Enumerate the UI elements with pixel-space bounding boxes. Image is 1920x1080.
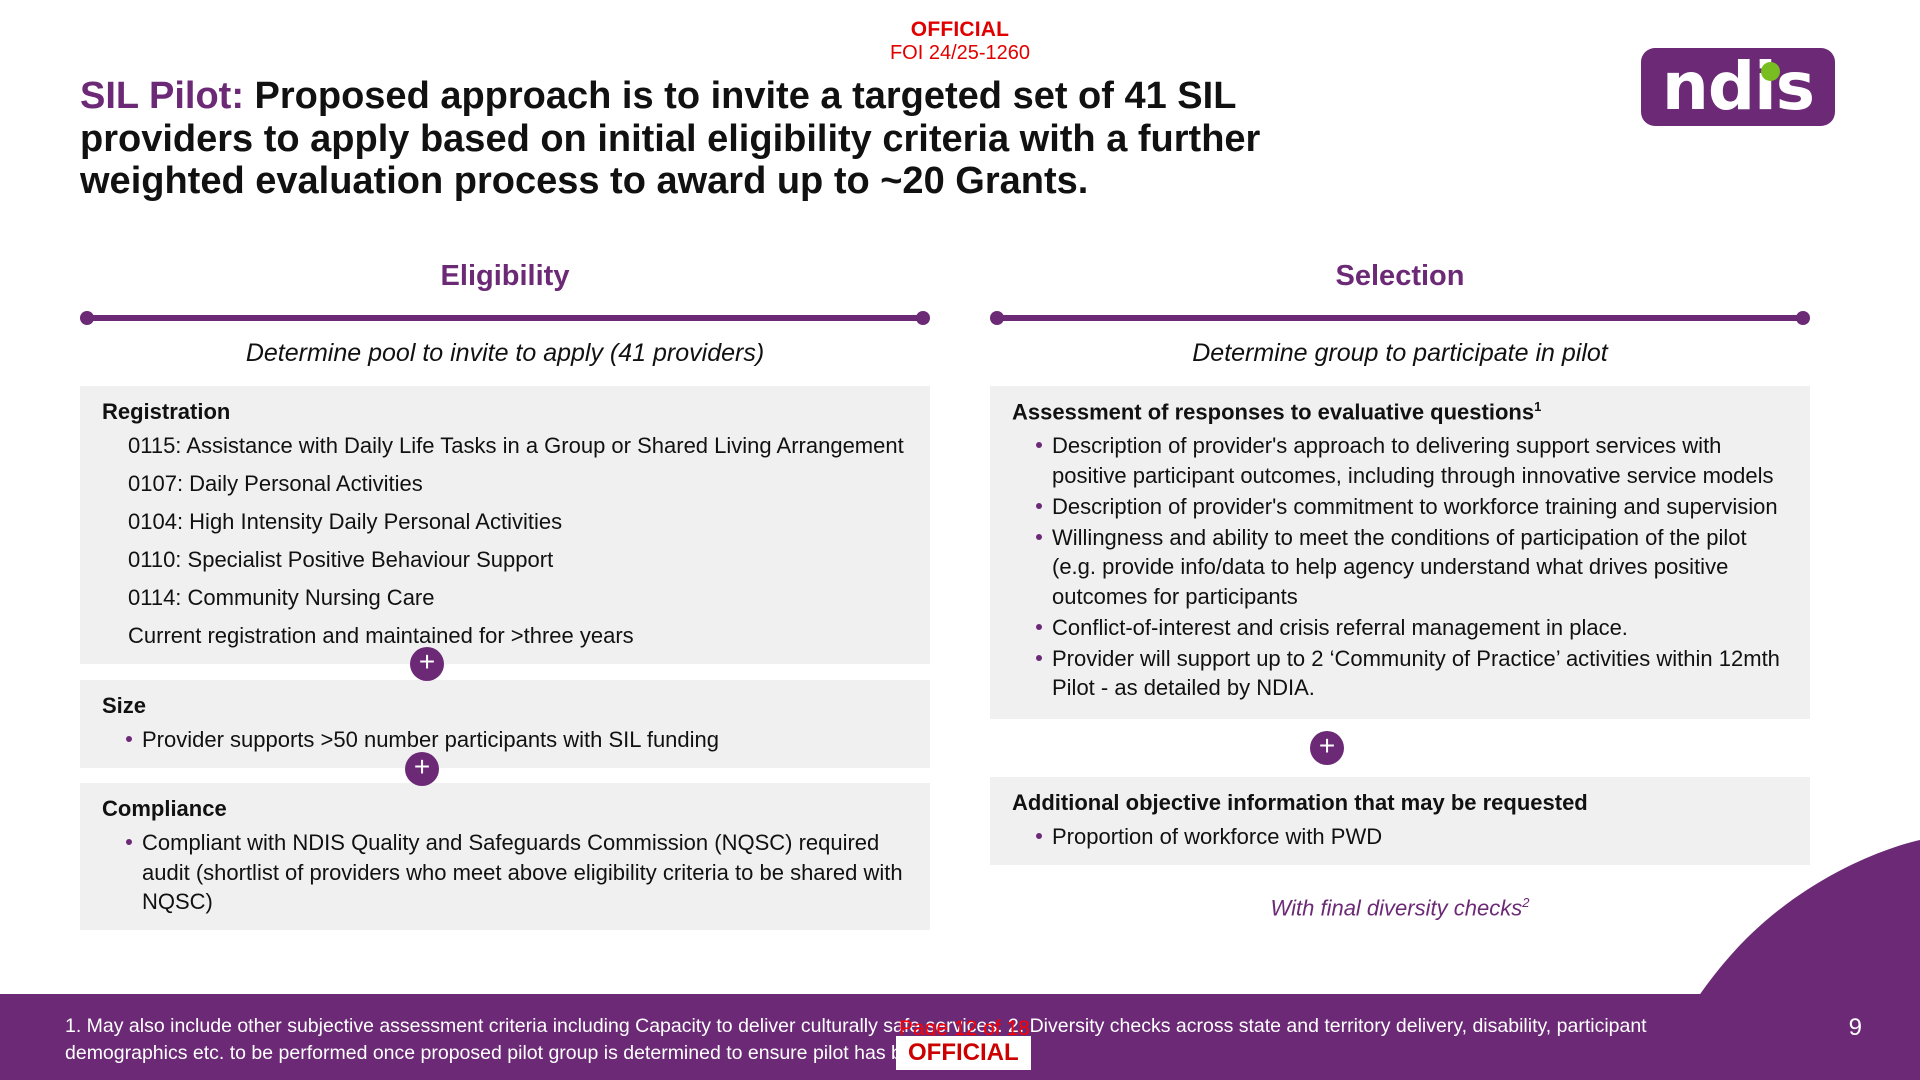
list-item: Willingness and ability to meet the cond… bbox=[1010, 523, 1790, 611]
timeline-dot-right-icon bbox=[1796, 311, 1810, 325]
final-diversity-note: With final diversity checks2 bbox=[990, 895, 1810, 921]
list-item: Compliant with NDIS Quality and Safeguar… bbox=[100, 828, 910, 916]
card-title-assessment: Assessment of responses to evaluative qu… bbox=[1012, 399, 1790, 425]
list-size: Provider supports >50 number participant… bbox=[100, 725, 910, 754]
card-title-assessment-text: Assessment of responses to evaluative qu… bbox=[1012, 399, 1534, 424]
list-compliance: Compliant with NDIS Quality and Safeguar… bbox=[100, 828, 910, 916]
official-stamp: OFFICIAL bbox=[896, 1036, 1031, 1070]
list-item: Proportion of workforce with PWD bbox=[1010, 822, 1790, 851]
timeline-bar bbox=[88, 315, 922, 321]
list-item: Provider will support up to 2 ‘Community… bbox=[1010, 644, 1790, 703]
card-size: Size Provider supports >50 number partic… bbox=[80, 680, 930, 768]
column-subheading-selection: Determine group to participate in pilot bbox=[990, 339, 1810, 368]
column-eligibility: Eligibility Determine pool to invite to … bbox=[80, 260, 930, 930]
ndis-logo: ndis bbox=[1641, 48, 1835, 126]
card-title-registration: Registration bbox=[102, 399, 910, 425]
timeline-bar bbox=[998, 315, 1802, 321]
card-title-additional-info: Additional objective information that ma… bbox=[1012, 790, 1790, 816]
plus-icon: + bbox=[405, 752, 439, 786]
list-item: Description of provider's commitment to … bbox=[1010, 492, 1790, 521]
list-item: 0110: Specialist Positive Behaviour Supp… bbox=[100, 545, 910, 574]
list-assessment: Description of provider's approach to de… bbox=[1010, 431, 1790, 702]
list-item: Description of provider's approach to de… bbox=[1010, 431, 1790, 490]
list-item: 0107: Daily Personal Activities bbox=[100, 469, 910, 498]
card-additional-info: Additional objective information that ma… bbox=[990, 777, 1810, 865]
final-diversity-note-text: With final diversity checks bbox=[1271, 895, 1523, 920]
column-heading-selection: Selection bbox=[990, 260, 1810, 293]
footnote-marker-1: 1 bbox=[1534, 399, 1541, 414]
list-item: Provider supports >50 number participant… bbox=[100, 725, 910, 754]
timeline-selection bbox=[990, 311, 1810, 325]
card-compliance: Compliance Compliant with NDIS Quality a… bbox=[80, 783, 930, 930]
footnote-marker-2: 2 bbox=[1522, 895, 1529, 910]
page-title-lead: SIL Pilot: bbox=[80, 75, 244, 117]
column-subheading-eligibility: Determine pool to invite to apply (41 pr… bbox=[80, 339, 930, 368]
ndis-wordmark: ndis bbox=[1641, 48, 1835, 126]
plus-icon: + bbox=[410, 647, 444, 681]
card-title-compliance: Compliance bbox=[102, 796, 910, 822]
column-selection: Selection Determine group to participate… bbox=[990, 260, 1810, 921]
plus-icon: + bbox=[1310, 731, 1344, 765]
column-heading-eligibility: Eligibility bbox=[80, 260, 930, 293]
slide: OFFICIAL FOI 24/25-1260 ndis SIL Pilot: … bbox=[0, 0, 1920, 1080]
timeline-eligibility bbox=[80, 311, 930, 325]
page-number: 9 bbox=[1849, 1014, 1862, 1042]
timeline-dot-right-icon bbox=[916, 311, 930, 325]
foi-reference: FOI 24/25-1260 bbox=[0, 42, 1920, 65]
list-item: 0104: High Intensity Daily Personal Acti… bbox=[100, 507, 910, 536]
ndis-green-dot-icon bbox=[1761, 62, 1780, 81]
list-registration: 0115: Assistance with Daily Life Tasks i… bbox=[100, 431, 910, 650]
card-registration: Registration 0115: Assistance with Daily… bbox=[80, 386, 930, 664]
card-assessment: Assessment of responses to evaluative qu… bbox=[990, 386, 1810, 719]
plus-glyph: + bbox=[419, 648, 435, 676]
page-title-rest: Proposed approach is to invite a targete… bbox=[80, 75, 1260, 202]
classification-header: OFFICIAL FOI 24/25-1260 bbox=[0, 18, 1920, 65]
plus-glyph: + bbox=[414, 753, 430, 781]
list-additional-info: Proportion of workforce with PWD bbox=[1010, 822, 1790, 851]
list-item: 0114: Community Nursing Care bbox=[100, 583, 910, 612]
list-item: Current registration and maintained for … bbox=[100, 621, 910, 650]
list-item: 0115: Assistance with Daily Life Tasks i… bbox=[100, 431, 910, 460]
list-item: Conflict-of-interest and crisis referral… bbox=[1010, 613, 1790, 642]
plus-glyph: + bbox=[1319, 732, 1335, 760]
classification-official-label: OFFICIAL bbox=[0, 18, 1920, 42]
card-title-size: Size bbox=[102, 693, 910, 719]
page-title: SIL Pilot: Proposed approach is to invit… bbox=[80, 75, 1310, 203]
